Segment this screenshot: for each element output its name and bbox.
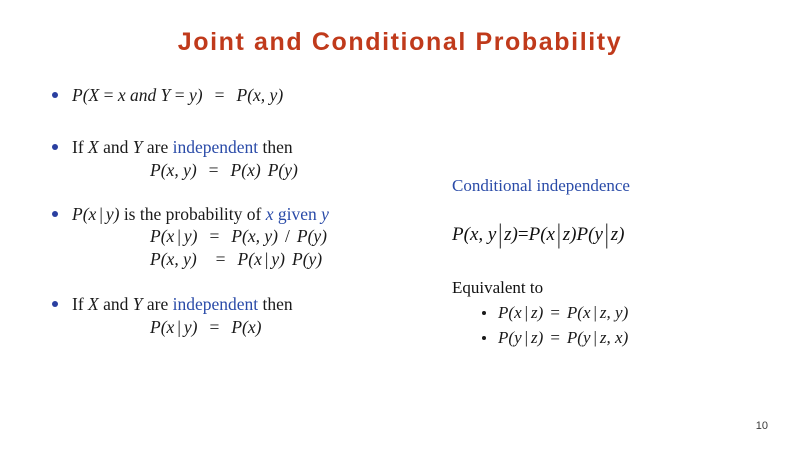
text-then: then	[258, 137, 293, 157]
bullet-dot-icon	[482, 311, 486, 315]
bullet-dot-icon	[52, 92, 58, 98]
equation-joint-product: P(x, y)=P(x)P(y)	[72, 159, 426, 182]
text-if: If	[72, 294, 88, 314]
equation-joint-definition: P(X = x and Y = y)=P(x, y)	[72, 84, 426, 106]
bullet-dot-icon	[482, 336, 486, 340]
equation-conditional-ratio: P(x|y)=P(x, y)/P(y)	[72, 225, 426, 248]
text-and: and	[99, 294, 133, 314]
bullet-joint-definition: P(X = x and Y = y)=P(x, y)	[46, 84, 426, 106]
equation-x-given-z: P(x|z)=P(x|z, y)	[498, 303, 628, 322]
variable-x: X	[88, 294, 99, 314]
text-independence-statement-2: If X and Y are independent then	[72, 293, 426, 315]
variable-x: X	[88, 137, 99, 157]
equivalent-sub-bullet-list: P(x|z)=P(x|z, y) P(y|z)=P(y|z, x)	[452, 301, 782, 349]
text-independence-statement: If X and Y are independent then	[72, 136, 426, 158]
text-conditional-statement: P(x|y) is the probability of x given y	[72, 203, 426, 225]
list-item: P(x|z)=P(x|z, y)	[482, 301, 782, 325]
highlight-x: x	[266, 204, 274, 224]
bullet-independence-conditional: If X and Y are independent then P(x|y)=P…	[46, 293, 426, 338]
equation-conditional-independence-main: P(x, y|z)=P(x|z)P(y|z)	[452, 224, 782, 246]
slide-canvas: Joint and Conditional Probability P(X = …	[0, 0, 800, 450]
equation-conditional-independence: P(x|y)=P(x)	[72, 316, 426, 339]
bullet-dot-icon	[52, 144, 58, 150]
text-given: given	[274, 204, 322, 224]
bullet-dot-icon	[52, 301, 58, 307]
conditional-independence-heading: Conditional independence	[452, 176, 782, 196]
text-are: are	[143, 137, 173, 157]
bullet-dot-icon	[52, 211, 58, 217]
highlight-independent: independent	[173, 294, 259, 314]
equivalent-to-heading: Equivalent to	[452, 278, 782, 298]
highlight-y: y	[321, 204, 329, 224]
variable-y: Y	[133, 294, 143, 314]
right-content-column: Conditional independence P(x, y|z)=P(x|z…	[452, 176, 782, 350]
bullet-conditional-definition: P(x|y) is the probability of x given y P…	[46, 203, 426, 272]
variable-y: Y	[133, 137, 143, 157]
page-number: 10	[756, 420, 768, 432]
text-and: and	[99, 137, 133, 157]
page-title: Joint and Conditional Probability	[0, 28, 800, 57]
list-item: P(y|z)=P(y|z, x)	[482, 326, 782, 350]
text-is-the-probability-of: is the probability of	[119, 204, 265, 224]
text-if: If	[72, 137, 88, 157]
left-content-column: P(X = x and Y = y)=P(x, y) If X and Y ar…	[46, 84, 426, 339]
equation-joint-from-conditional: P(x, y)=P(x|y)P(y)	[72, 248, 426, 271]
bullet-independence-product: If X and Y are independent then P(x, y)=…	[46, 136, 426, 181]
text-then: then	[258, 294, 293, 314]
highlight-independent: independent	[173, 137, 259, 157]
equation-y-given-z: P(y|z)=P(y|z, x)	[498, 328, 628, 347]
text-are: are	[143, 294, 173, 314]
